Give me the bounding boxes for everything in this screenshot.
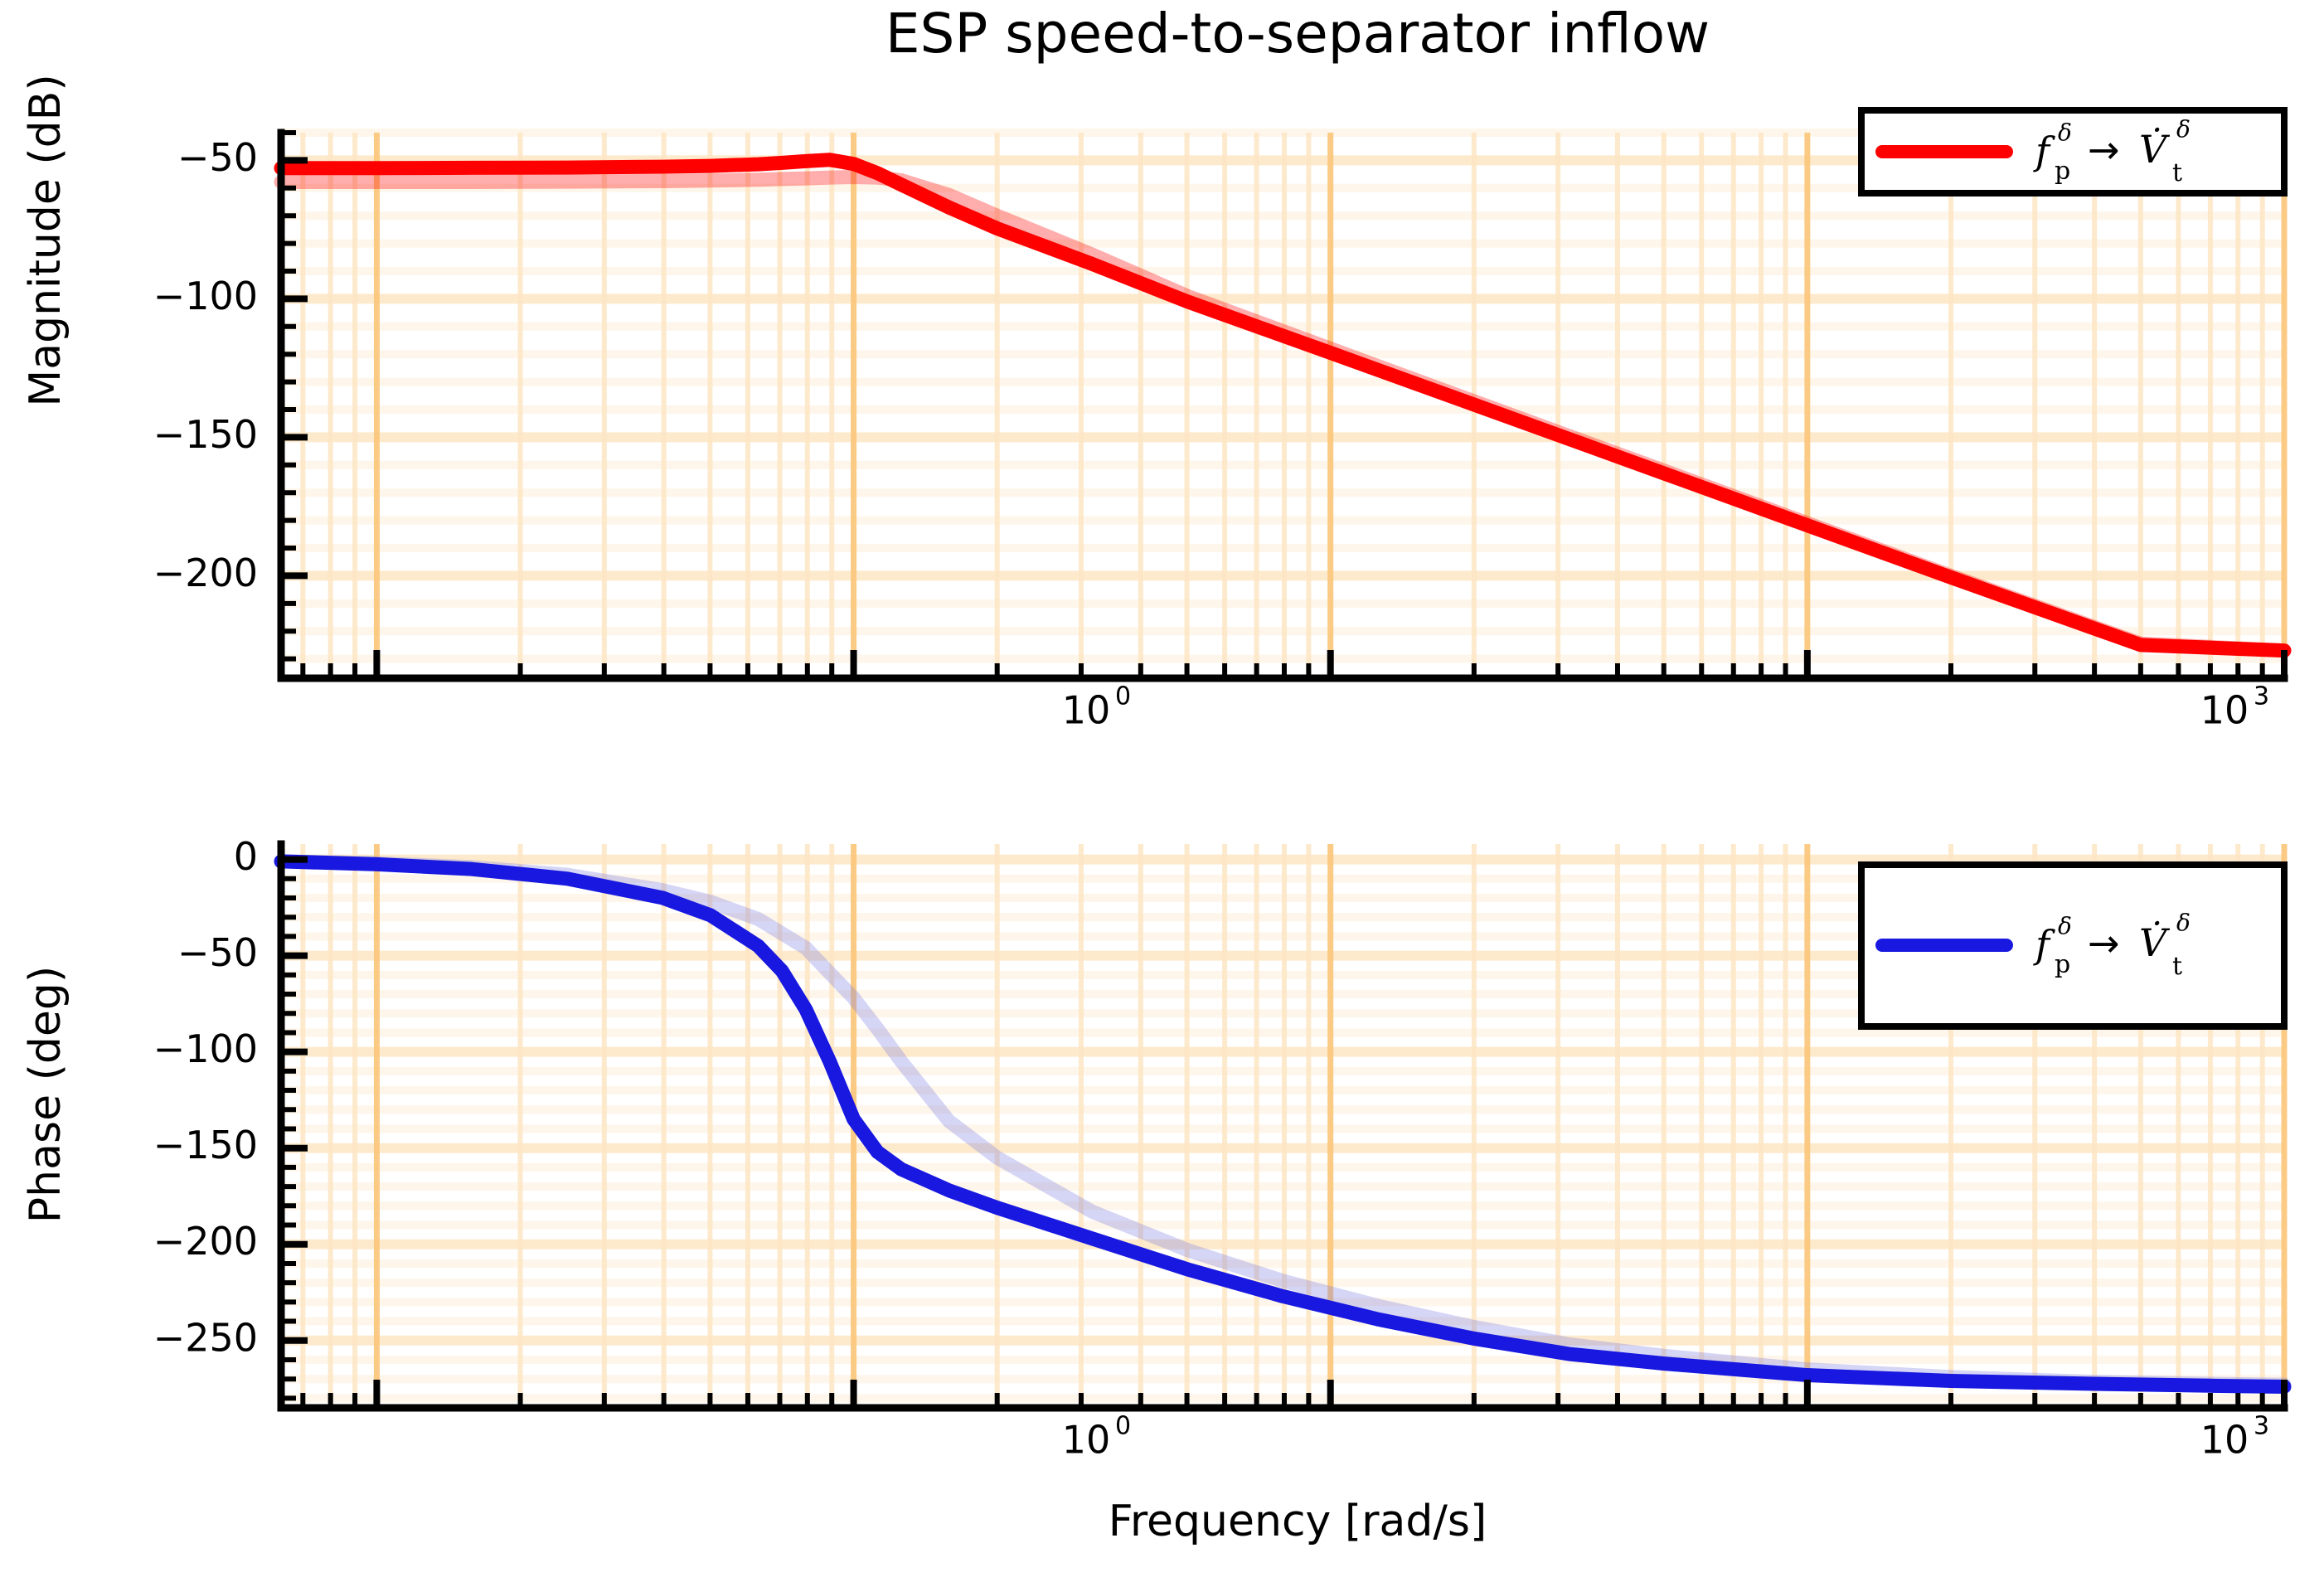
page-title: ESP speed-to-separator inflow (885, 2, 1710, 66)
magnitude-axis-label: Magnitude (dB) (21, 74, 70, 406)
phase-xtick-label-1-exponent: 3 (2254, 1412, 2269, 1441)
ph-ytick-label: −150 (153, 1123, 258, 1167)
phase-xtick-label-0-exponent: 0 (1115, 1412, 1131, 1441)
magnitude-legend-arrow-icon: → (2088, 128, 2120, 172)
phase-legend-label-v-sub: t (2172, 952, 2182, 981)
magnitude-legend[interactable]: f δ p → V̇ δ t (1861, 110, 2284, 193)
mag-ytick-label: −50 (177, 135, 258, 180)
magnitude-legend-label-v-sup: δ (2176, 116, 2191, 143)
phase-legend-label-v: V̇ (2139, 920, 2171, 965)
magnitude-xtick-label-1-mantissa: 10 (2200, 687, 2249, 732)
bode-plot-figure: ESP speed-to-separator inflow −50−100−15… (0, 0, 2324, 1577)
magnitude-legend-label-f-sub: p (2055, 157, 2070, 186)
mag-ytick-label: −100 (153, 274, 258, 318)
frequency-axis-label: Frequency [rad/s] (1109, 1497, 1487, 1546)
phase-legend[interactable]: f δ p → V̇ δ t (1861, 865, 2284, 1026)
ph-ytick-label: −200 (153, 1219, 258, 1264)
bode-plot-canvas: ESP speed-to-separator inflow −50−100−15… (0, 0, 2324, 1577)
phase-legend-label-f-sup: δ (2058, 913, 2072, 940)
magnitude-xtick-label-0-mantissa: 10 (1062, 687, 1111, 732)
phase-legend-arrow-icon: → (2088, 921, 2120, 966)
mag-ytick-label: −200 (153, 551, 258, 595)
ph-ytick-label: −250 (153, 1315, 258, 1360)
magnitude-legend-label-v-sub: t (2172, 158, 2182, 187)
phase-xtick-label-1-mantissa: 10 (2200, 1417, 2249, 1462)
magnitude-xtick-label-0-exponent: 0 (1115, 682, 1131, 711)
phase-legend-label-f-sub: p (2055, 950, 2070, 979)
magnitude-legend-label-v: V̇ (2139, 127, 2171, 172)
ph-ytick-label: −50 (177, 930, 258, 975)
ph-ytick-label: 0 (234, 834, 258, 879)
magnitude-legend-label-f-sup: δ (2058, 119, 2072, 147)
ph-ytick-label: −100 (153, 1026, 258, 1071)
phase-xtick-label-0-mantissa: 10 (1062, 1417, 1111, 1462)
phase-axis-label: Phase (deg) (21, 966, 70, 1223)
mag-ytick-label: −150 (153, 412, 258, 457)
phase-legend-label-v-sup: δ (2176, 910, 2191, 937)
magnitude-xtick-label-1-exponent: 3 (2254, 682, 2269, 711)
